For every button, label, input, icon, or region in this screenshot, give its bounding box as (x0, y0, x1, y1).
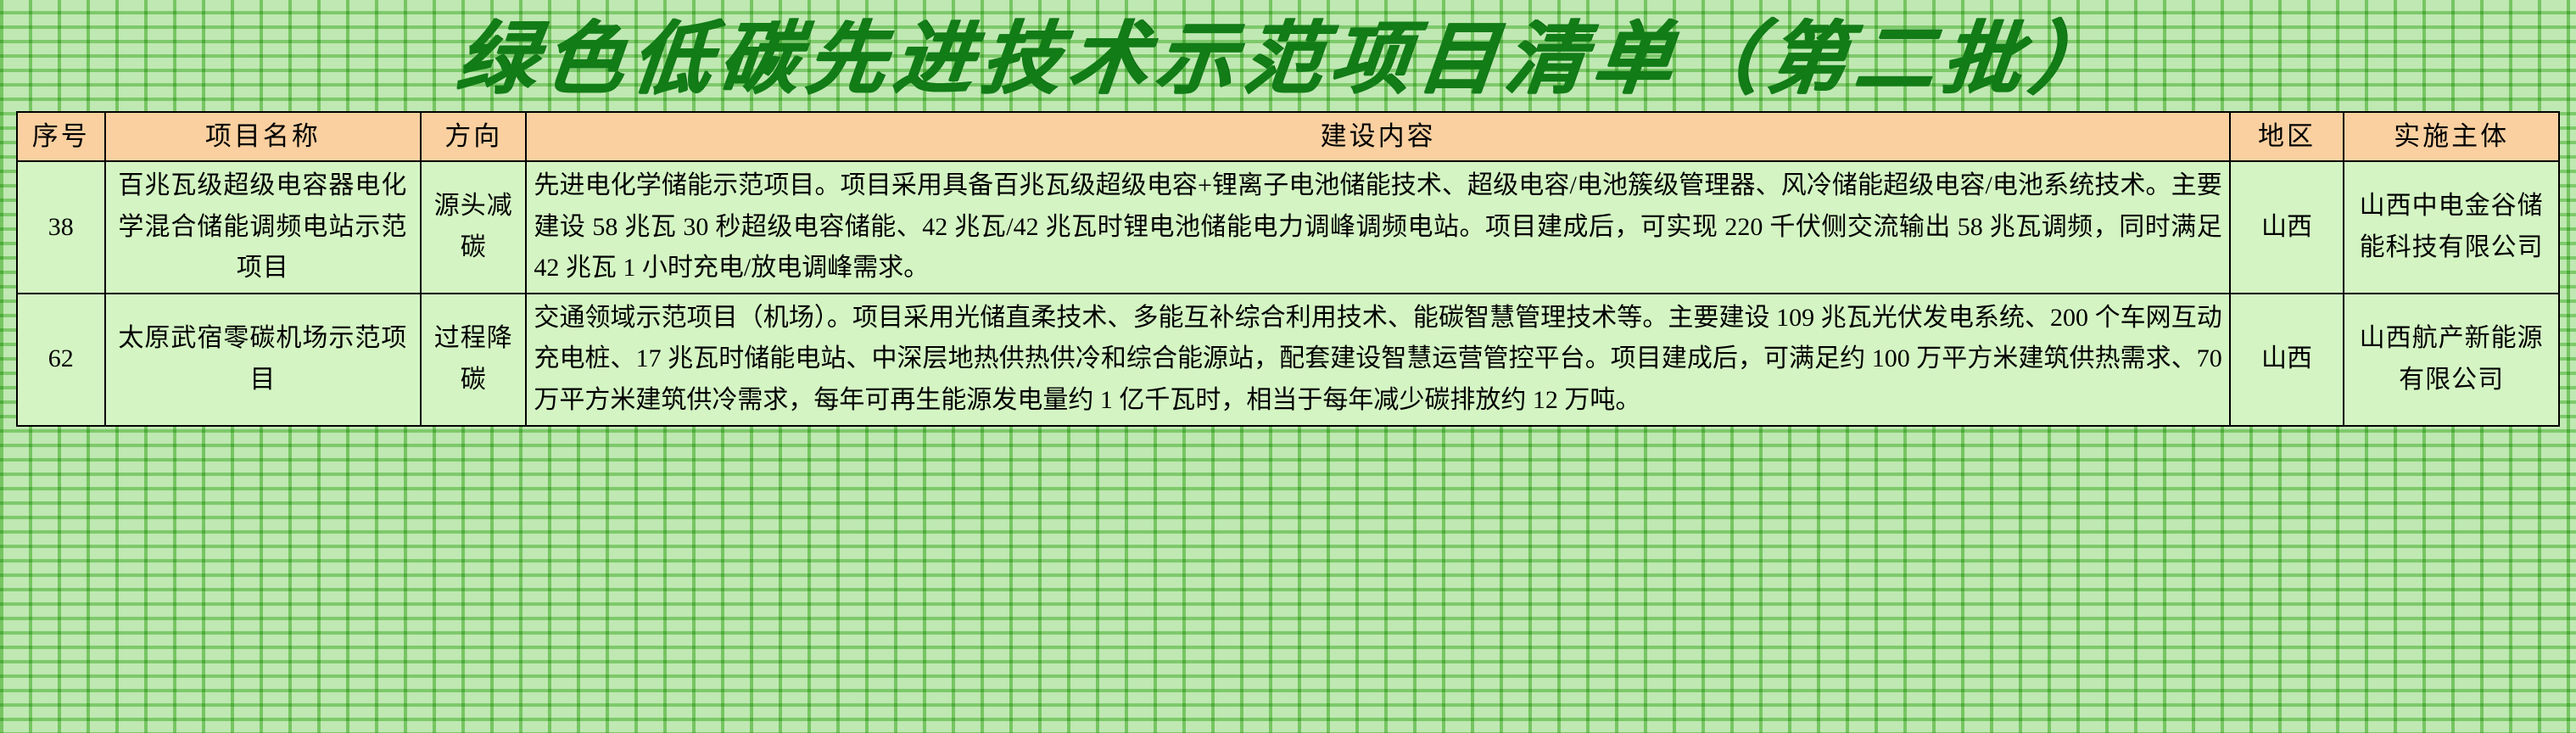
page-title: 绿色低碳先进技术示范项目清单（第二批） (0, 0, 2576, 98)
column-header-dir: 方向 (421, 112, 526, 161)
cell-content: 先进电化学储能示范项目。项目采用具备百兆瓦级超级电容+锂离子电池储能技术、超级电… (526, 161, 2229, 294)
cell-region: 山西 (2230, 294, 2344, 426)
cell-dir: 过程降碳 (421, 294, 526, 426)
column-header-entity: 实施主体 (2344, 112, 2559, 161)
cell-no: 62 (17, 294, 105, 426)
table-row: 62 太原武宿零碳机场示范项目 过程降碳 交通领域示范项目（机场）。项目采用光储… (17, 294, 2559, 426)
table-header-row: 序号 项目名称 方向 建设内容 地区 实施主体 (17, 112, 2559, 161)
column-header-region: 地区 (2230, 112, 2344, 161)
column-header-no: 序号 (17, 112, 105, 161)
project-list-table: 序号 项目名称 方向 建设内容 地区 实施主体 38 百兆瓦级超级电容器电化学混… (16, 111, 2560, 427)
cell-dir: 源头减碳 (421, 161, 526, 294)
cell-name: 太原武宿零碳机场示范项目 (105, 294, 422, 426)
cell-no: 38 (17, 161, 105, 294)
column-header-content: 建设内容 (526, 112, 2229, 161)
cell-content: 交通领域示范项目（机场）。项目采用光储直柔技术、多能互补综合利用技术、能碳智慧管… (526, 294, 2229, 426)
cell-region: 山西 (2230, 161, 2344, 294)
cell-entity: 山西航产新能源有限公司 (2344, 294, 2559, 426)
page-root: 绿色低碳先进技术示范项目清单（第二批） 序号 项目名称 方向 建设内容 地区 实… (0, 0, 2576, 733)
cell-name: 百兆瓦级超级电容器电化学混合储能调频电站示范项目 (105, 161, 422, 294)
column-header-name: 项目名称 (105, 112, 422, 161)
table-row: 38 百兆瓦级超级电容器电化学混合储能调频电站示范项目 源头减碳 先进电化学储能… (17, 161, 2559, 294)
cell-entity: 山西中电金谷储能科技有限公司 (2344, 161, 2559, 294)
